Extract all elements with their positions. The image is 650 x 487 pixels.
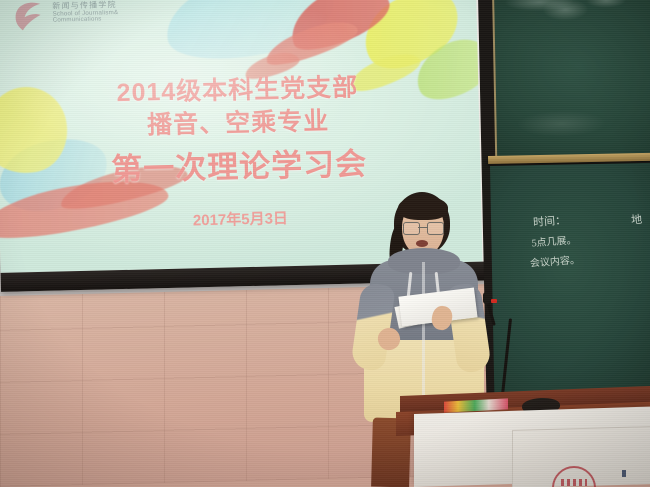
classroom-photo: 新闻与传播学院 School of Journalism& Communicat…: [0, 0, 650, 487]
chalk-text-line-1: 时间：: [533, 212, 567, 230]
logo-text-block: 新闻与传播学院 School of Journalism& Communicat…: [52, 1, 118, 24]
mouth: [416, 240, 428, 247]
lens-right: [427, 222, 444, 235]
chalk-smear: [586, 0, 626, 8]
microphone-head-icon: [483, 292, 490, 304]
speaker-person: [340, 188, 500, 418]
chalk-smear: [516, 110, 606, 138]
lectern-marking: [622, 470, 626, 477]
chalk-smear: [542, 0, 588, 21]
glasses-bridge: [418, 227, 427, 228]
hair-front: [398, 196, 448, 220]
blackboard-lower-panel: 时间： 5点几展。 会议内容。 地: [490, 163, 650, 414]
chalk-text-right: 地: [630, 211, 642, 228]
logo-english-line2: Communications: [53, 16, 119, 24]
glasses-icon: [403, 222, 443, 233]
jacket-zipper: [422, 262, 425, 412]
chalk-text-line-3: 会议内容。: [529, 251, 580, 270]
blackboard-upper-panel: [492, 0, 650, 162]
microphone-led-indicator: [491, 299, 497, 303]
lens-left: [403, 222, 420, 235]
school-logo: 新闻与传播学院 School of Journalism& Communicat…: [12, 0, 119, 32]
swoosh-logo-mark-icon: [12, 0, 47, 32]
chalk-text-line-2: 5点几展。: [531, 231, 577, 249]
